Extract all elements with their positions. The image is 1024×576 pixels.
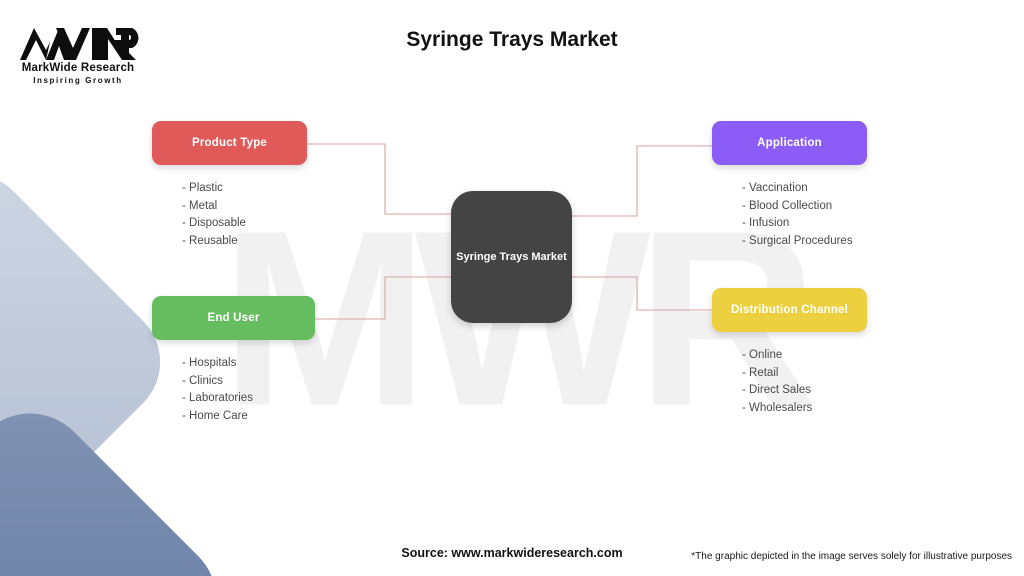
list-item: - Wholesalers — [742, 400, 867, 418]
list-item: - Disposable — [182, 215, 307, 233]
branch-application[interactable]: Application - Vaccination - Blood Collec… — [712, 121, 867, 250]
connector-distribution-channel — [572, 277, 712, 310]
list-item: - Home Care — [182, 408, 315, 426]
branch-header-distribution-channel[interactable]: Distribution Channel — [712, 288, 867, 332]
branch-label: Application — [757, 137, 822, 149]
list-item: - Plastic — [182, 180, 307, 198]
branch-label: End User — [207, 312, 259, 324]
connector-application — [572, 146, 712, 216]
branch-distribution-channel[interactable]: Distribution Channel - Online - Retail -… — [712, 288, 867, 417]
branch-label: Distribution Channel — [731, 304, 848, 316]
branch-list-application: - Vaccination - Blood Collection - Infus… — [742, 180, 867, 250]
list-item: - Reusable — [182, 233, 307, 251]
branch-product-type[interactable]: Product Type - Plastic - Metal - Disposa… — [152, 121, 307, 250]
list-item: - Retail — [742, 365, 867, 383]
branch-label: Product Type — [192, 137, 267, 149]
branch-list-product-type: - Plastic - Metal - Disposable - Reusabl… — [182, 180, 307, 250]
center-node-label: Syringe Trays Market — [456, 250, 567, 264]
list-item: - Surgical Procedures — [742, 233, 867, 251]
branch-list-distribution-channel: - Online - Retail - Direct Sales - Whole… — [742, 347, 867, 417]
branch-header-end-user[interactable]: End User — [152, 296, 315, 340]
branch-header-application[interactable]: Application — [712, 121, 867, 165]
list-item: - Infusion — [742, 215, 867, 233]
center-node[interactable]: Syringe Trays Market — [451, 191, 572, 323]
connector-product-type — [307, 144, 452, 214]
list-item: - Hospitals — [182, 355, 315, 373]
branch-list-end-user: - Hospitals - Clinics - Laboratories - H… — [182, 355, 315, 425]
list-item: - Direct Sales — [742, 382, 867, 400]
list-item: - Clinics — [182, 373, 315, 391]
connector-end-user — [315, 277, 452, 319]
list-item: - Metal — [182, 198, 307, 216]
list-item: - Blood Collection — [742, 198, 867, 216]
list-item: - Vaccination — [742, 180, 867, 198]
list-item: - Online — [742, 347, 867, 365]
branch-header-product-type[interactable]: Product Type — [152, 121, 307, 165]
footer-disclaimer: *The graphic depicted in the image serve… — [691, 551, 1012, 562]
branch-end-user[interactable]: End User - Hospitals - Clinics - Laborat… — [152, 296, 315, 425]
list-item: - Laboratories — [182, 390, 315, 408]
